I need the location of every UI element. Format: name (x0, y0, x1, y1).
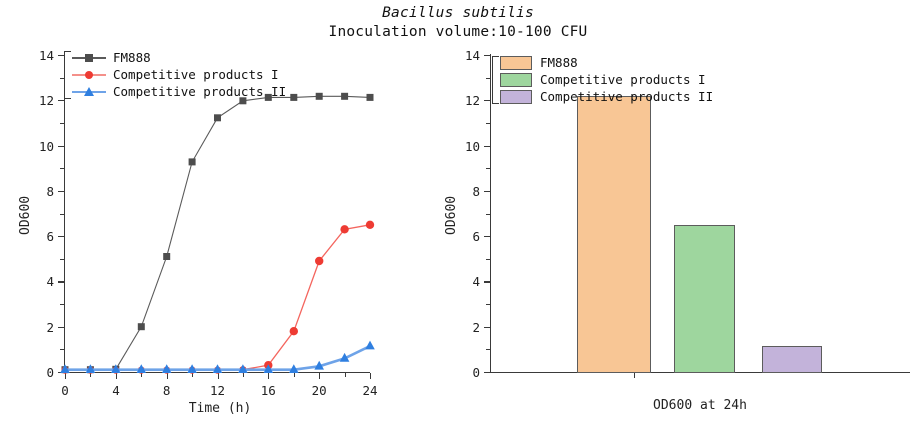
legend-key-competitor1 (72, 68, 106, 82)
right-y-axis-label: OD600 (444, 196, 459, 235)
right-ylabel-14: 14 (456, 48, 480, 63)
triangle-marker-icon (84, 87, 94, 96)
bar-chart-legend: FM888 Competitive products I Competitive… (500, 55, 713, 106)
bar-competitor2[interactable] (762, 346, 822, 373)
right-ytick-minor-11 (486, 123, 490, 124)
right-ylabel-6: 6 (464, 229, 480, 244)
series-line-fm888 (65, 96, 370, 369)
legend-bracket (64, 51, 71, 99)
swatch-fm888 (500, 56, 532, 70)
right-ylabel-10: 10 (456, 139, 480, 154)
bar-legend-label-fm888: FM888 (540, 56, 578, 70)
right-ylabel-12: 12 (456, 93, 480, 108)
bar-competitor1[interactable] (674, 225, 735, 373)
bar-legend-label-competitor2: Competitive products II (540, 90, 713, 104)
legend-label-fm888: FM888 (113, 51, 151, 65)
right-ytick-minor-3 (486, 304, 490, 305)
right-ylabel-8: 8 (464, 184, 480, 199)
bar-legend-item-competitor1[interactable]: Competitive products I (500, 72, 713, 88)
swatch-competitor2 (500, 90, 532, 104)
legend-key-competitor2 (72, 85, 106, 99)
right-ytick-8 (484, 191, 490, 192)
line-chart-legend: FM888 Competitive products I Competitive… (72, 50, 286, 101)
legend-item-competitor1[interactable]: Competitive products I (72, 67, 286, 83)
bar-fm888[interactable] (577, 96, 651, 373)
right-x-axis-label: OD600 at 24h (610, 398, 790, 413)
swatch-competitor1 (500, 73, 532, 87)
right-ytick-14 (484, 55, 490, 56)
legend-key-fm888 (72, 51, 106, 65)
right-ytick-minor-7 (486, 214, 490, 215)
figure-canvas: Bacillus subtilis Inoculation volume:10-… (0, 0, 916, 430)
right-ytick-6 (484, 236, 490, 237)
legend-item-fm888[interactable]: FM888 (72, 50, 286, 66)
right-ytick-0 (484, 372, 490, 373)
right-ytick-2 (484, 327, 490, 328)
right-ytick-minor-13 (486, 78, 490, 79)
right-ylabel-4: 4 (464, 274, 480, 289)
bar-legend-label-competitor1: Competitive products I (540, 73, 706, 87)
right-ytick-minor-9 (486, 168, 490, 169)
legend-item-competitor2[interactable]: Competitive products II (72, 84, 286, 100)
right-xtick-1 (634, 373, 635, 378)
bar-legend-bracket (492, 56, 499, 104)
legend-label-competitor1: Competitive products I (113, 68, 279, 82)
right-ytick-12 (484, 100, 490, 101)
right-ytick-minor-1 (486, 349, 490, 350)
series-markers-competitor1 (61, 221, 374, 374)
series-line-competitor1 (65, 225, 370, 370)
right-ytick-4 (484, 281, 490, 282)
circle-marker-icon (85, 71, 93, 79)
bar-legend-item-fm888[interactable]: FM888 (500, 55, 713, 71)
right-ytick-minor-5 (486, 259, 490, 260)
right-ylabel-0: 0 (464, 365, 480, 380)
right-ylabel-2: 2 (464, 320, 480, 335)
bar-chart-panel: 0 2 4 6 8 10 12 14 OD600 OD600 at 24h FM… (430, 0, 916, 430)
line-chart-panel: 0 2 4 6 8 10 12 14 OD600 0 4 8 12 16 20 … (0, 0, 430, 430)
series-markers-competitor2 (60, 341, 375, 373)
bar-legend-item-competitor2[interactable]: Competitive products II (500, 89, 713, 105)
square-marker-icon (85, 54, 93, 62)
legend-label-competitor2: Competitive products II (113, 85, 286, 99)
right-ytick-10 (484, 146, 490, 147)
series-markers-fm888 (62, 93, 374, 373)
